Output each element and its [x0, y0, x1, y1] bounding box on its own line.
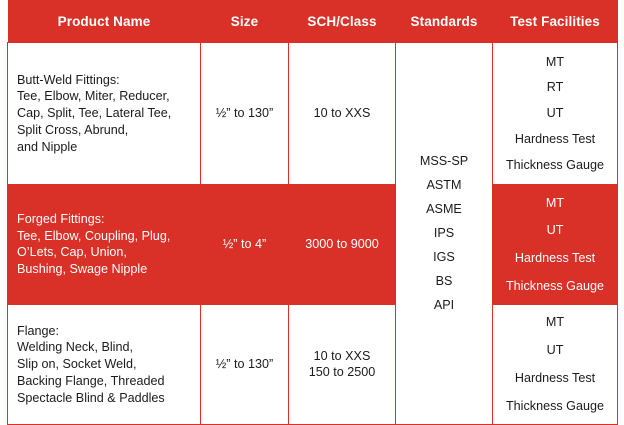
column-header-standards: Standards	[396, 0, 493, 43]
product-line: Spectacle Blind & Paddles	[17, 390, 194, 407]
sch-class-line: 10 to XXS	[295, 105, 389, 122]
cell-standards-merged: MSS-SP ASTM ASME IPS IGS BS API	[396, 43, 493, 425]
test-facility-item: UT	[547, 222, 564, 239]
test-facility-item: Hardness Test	[515, 131, 595, 148]
column-header-test-facilities: Test Facilities	[493, 0, 618, 43]
product-line: and Nipple	[17, 139, 194, 156]
cell-test-facilities: MT UT Hardness Test Thickness Gauge	[493, 185, 618, 305]
product-spec-table-container: Product Name Size SCH/Class Standards Te…	[0, 0, 624, 414]
test-facility-item: Thickness Gauge	[506, 398, 604, 415]
test-facility-item: UT	[547, 105, 564, 122]
product-line: Slip on, Socket Weld,	[17, 356, 194, 373]
cell-size: ½” to 130”	[201, 43, 289, 185]
test-facility-item: MT	[546, 195, 564, 212]
test-facility-item: RT	[547, 79, 564, 96]
table-body: Butt-Weld Fittings: Tee, Elbow, Miter, R…	[8, 43, 618, 425]
test-facility-item: MT	[546, 314, 564, 331]
cell-sch-class: 10 to XXS	[289, 43, 396, 185]
test-facility-item: Hardness Test	[515, 250, 595, 267]
product-line: Cap, Split, Tee, Lateral Tee,	[17, 105, 194, 122]
product-line: Split Cross, Abrund,	[17, 122, 194, 139]
cell-test-facilities: MT RT UT Hardness Test Thickness Gauge	[493, 43, 618, 185]
test-facility-item: Thickness Gauge	[506, 157, 604, 174]
cell-test-facilities: MT UT Hardness Test Thickness Gauge	[493, 304, 618, 424]
sch-class-line: 10 to XXS	[295, 348, 389, 365]
table-row: Flange: Welding Neck, Blind, Slip on, So…	[8, 304, 618, 424]
header-row: Product Name Size SCH/Class Standards Te…	[8, 0, 618, 43]
column-header-sch-class: SCH/Class	[289, 0, 396, 43]
cell-sch-class: 3000 to 9000	[289, 185, 396, 305]
product-line: Bushing, Swage Nipple	[17, 261, 194, 278]
table-row: Butt-Weld Fittings: Tee, Elbow, Miter, R…	[8, 43, 618, 185]
product-line: Backing Flange, Threaded	[17, 373, 194, 390]
standard-item: BS	[436, 275, 453, 288]
cell-sch-class: 10 to XXS 150 to 2500	[289, 304, 396, 424]
table-row-highlighted: Forged Fittings: Tee, Elbow, Coupling, P…	[8, 185, 618, 305]
product-line: Tee, Elbow, Miter, Reducer,	[17, 88, 194, 105]
cell-product-name: Butt-Weld Fittings: Tee, Elbow, Miter, R…	[8, 43, 201, 185]
column-header-product-name: Product Name	[8, 0, 201, 43]
sch-class-line: 3000 to 9000	[295, 236, 389, 253]
cell-size: ½” to 4”	[201, 185, 289, 305]
test-facility-item: Thickness Gauge	[506, 278, 604, 295]
standard-item: MSS-SP	[420, 155, 468, 168]
standard-item: ASTM	[427, 179, 462, 192]
product-line: Welding Neck, Blind,	[17, 339, 194, 356]
product-title: Forged Fittings:	[17, 211, 194, 228]
cell-product-name: Flange: Welding Neck, Blind, Slip on, So…	[8, 304, 201, 424]
standard-item: ASME	[426, 203, 462, 216]
standard-item: IPS	[434, 227, 454, 240]
product-specification-table: Product Name Size SCH/Class Standards Te…	[7, 0, 618, 425]
test-facility-item: MT	[546, 54, 564, 71]
cell-size: ½” to 130”	[201, 304, 289, 424]
product-title: Flange:	[17, 323, 194, 340]
cell-product-name: Forged Fittings: Tee, Elbow, Coupling, P…	[8, 185, 201, 305]
product-line: O’Lets, Cap, Union,	[17, 244, 194, 261]
standard-item: API	[434, 299, 454, 312]
product-line: Tee, Elbow, Coupling, Plug,	[17, 228, 194, 245]
test-facility-item: UT	[547, 342, 564, 359]
table-header: Product Name Size SCH/Class Standards Te…	[8, 0, 618, 43]
sch-class-line: 150 to 2500	[295, 364, 389, 381]
standard-item: IGS	[433, 251, 455, 264]
column-header-size: Size	[201, 0, 289, 43]
product-title: Butt-Weld Fittings:	[17, 72, 194, 89]
test-facility-item: Hardness Test	[515, 370, 595, 387]
